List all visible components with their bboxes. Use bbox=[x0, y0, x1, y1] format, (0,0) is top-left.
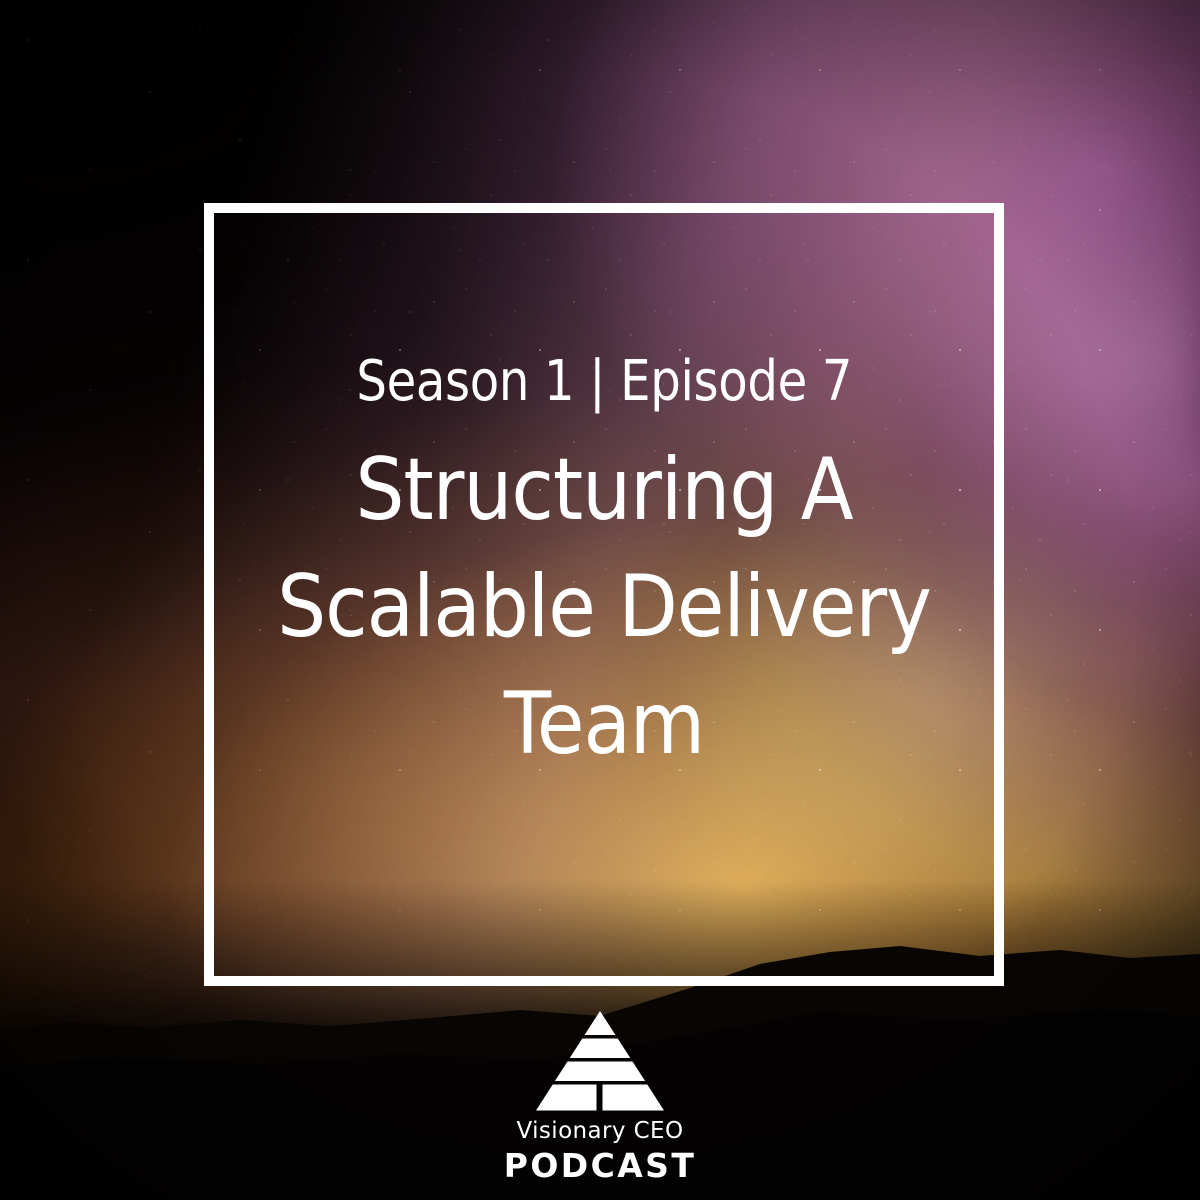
episode-label: Season 1 | Episode 7 bbox=[356, 353, 852, 412]
podcast-logo: Visionary CEO PODCAST bbox=[0, 1009, 1200, 1182]
logo-name: Visionary CEO bbox=[516, 1120, 683, 1143]
podcast-cover: Season 1 | Episode 7 Structuring A Scala… bbox=[0, 0, 1200, 1200]
logo-wordmark: PODCAST bbox=[504, 1149, 696, 1182]
page-title: Structuring A Scalable Delivery Team bbox=[262, 432, 946, 783]
title-block: Season 1 | Episode 7 Structuring A Scala… bbox=[204, 203, 1004, 986]
pyramid-icon bbox=[536, 1009, 664, 1113]
